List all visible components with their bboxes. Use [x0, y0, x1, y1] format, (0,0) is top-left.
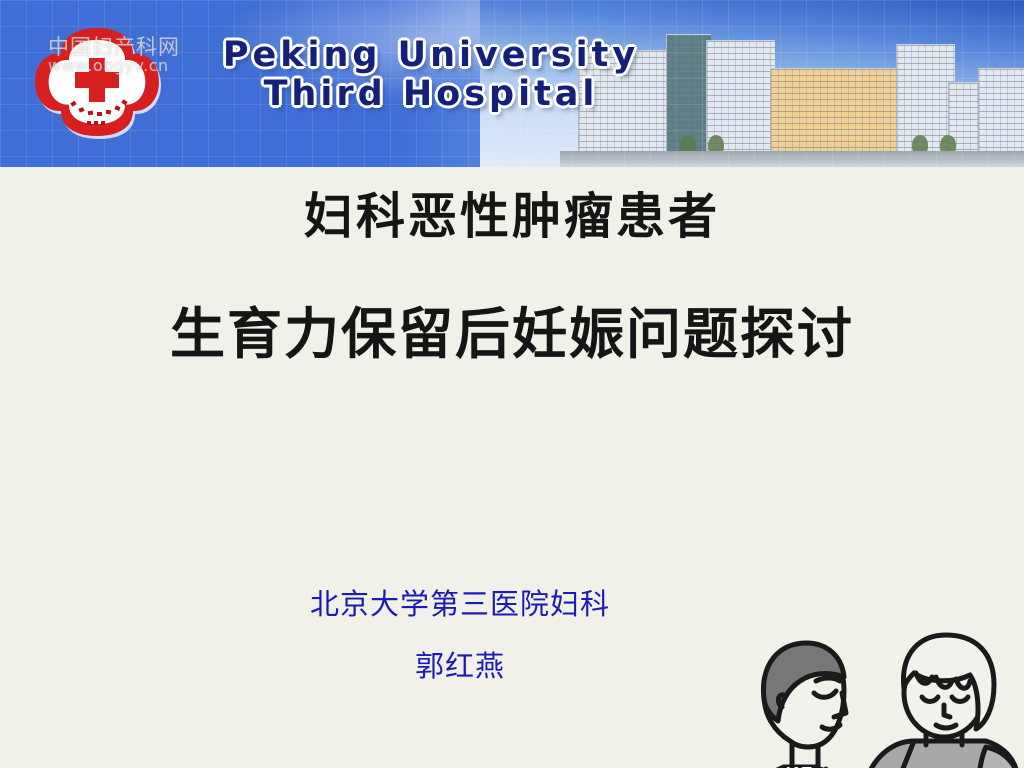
- wordmark-line-2: Third Hospital: [196, 75, 666, 114]
- doctor-examining-patient-illustration: [718, 629, 1024, 768]
- presentation-slide: 中国妇产科网 www.obgyv.cn Peking University Th…: [0, 0, 1024, 768]
- author-affiliation: 北京大学第三医院妇科: [0, 590, 920, 619]
- hospital-banner-header: 中国妇产科网 www.obgyv.cn Peking University Th…: [0, 0, 1024, 167]
- hospital-cross-logo: [33, 22, 161, 142]
- wordmark-line-1: Peking University: [196, 36, 666, 75]
- hospital-wordmark: Peking University Third Hospital: [196, 36, 666, 114]
- slide-body: 妇科恶性肿瘤患者 生育力保留后妊娠问题探讨 北京大学第三医院妇科 郭红燕: [0, 167, 1024, 768]
- slide-title-line-1: 妇科恶性肿瘤患者: [0, 192, 1024, 241]
- slide-title-block: 妇科恶性肿瘤患者 生育力保留后妊娠问题探讨: [0, 192, 1024, 362]
- slide-title-line-2: 生育力保留后妊娠问题探讨: [0, 307, 1024, 362]
